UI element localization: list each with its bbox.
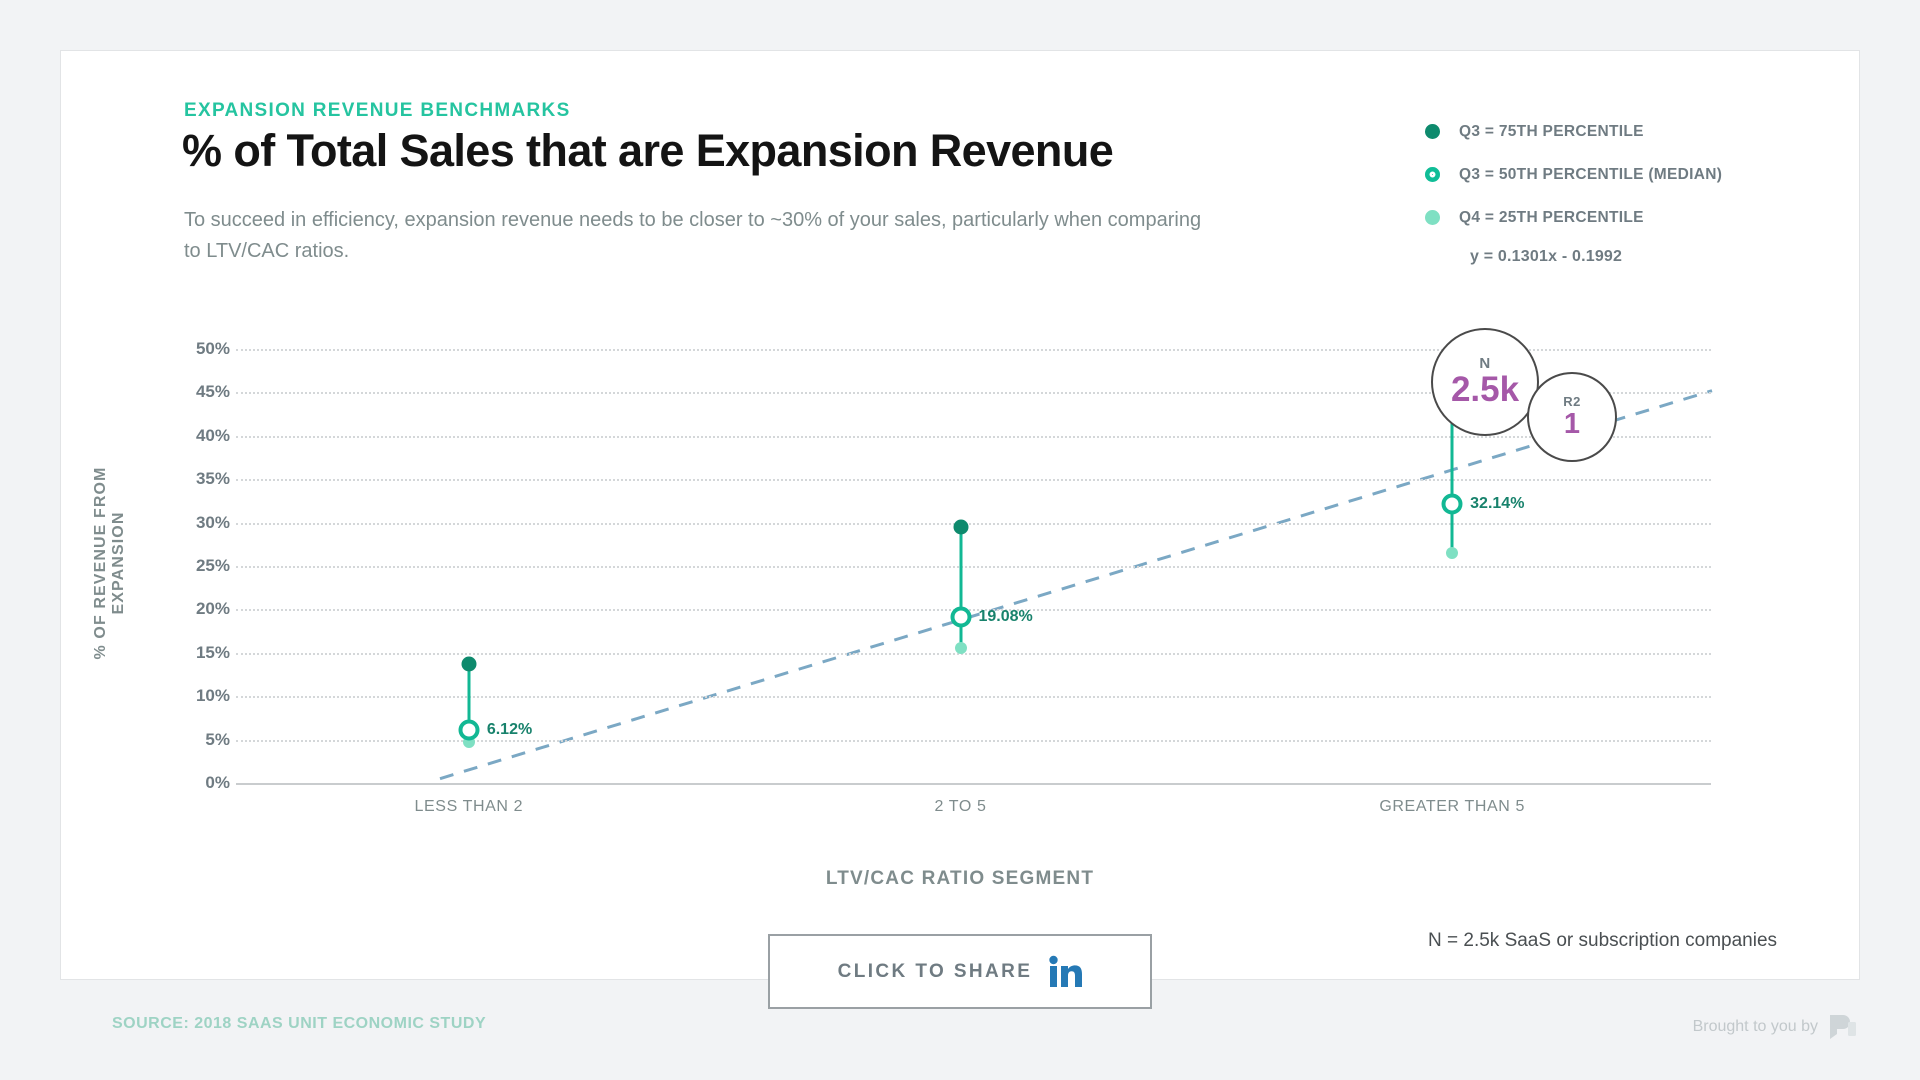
legend-item-q3-75: Q3 = 75TH PERCENTILE [1425,110,1805,153]
brand-attribution: Brought to you by [1693,1013,1858,1041]
legend-ring-icon [1425,167,1440,182]
source-note: SOURCE: 2018 SAAS UNIT ECONOMIC STUDY [112,1015,486,1033]
legend-item-label: Q3 = 50TH PERCENTILE (MEDIAN) [1459,166,1722,184]
brought-by-label: Brought to you by [1693,1018,1818,1036]
legend-item-label: Q4 = 25TH PERCENTILE [1459,209,1644,227]
linkedin-icon [1048,955,1082,989]
legend-dot-icon [1425,210,1440,225]
page-subtitle: To succeed in efficiency, expansion reve… [184,205,1214,267]
profitwell-logo-icon [1828,1013,1858,1041]
eyebrow-label: EXPANSION REVENUE BENCHMARKS [184,100,571,122]
share-button[interactable]: CLICK TO SHARE [768,934,1152,1009]
legend-item-q4-25: Q4 = 25TH PERCENTILE [1425,196,1805,239]
legend-item-median: Q3 = 50TH PERCENTILE (MEDIAN) [1425,153,1805,196]
legend-item-label: Q3 = 75TH PERCENTILE [1459,123,1644,141]
infographic-page: EXPANSION REVENUE BENCHMARKS % of Total … [0,0,1920,1080]
trendline-equation: y = 0.1301x - 0.1992 [1470,248,1622,266]
chart-legend: Q3 = 75TH PERCENTILE Q3 = 50TH PERCENTIL… [1425,110,1805,239]
x-axis-title: LTV/CAC RATIO SEGMENT [0,868,1920,890]
sample-size-note: N = 2.5k SaaS or subscription companies [1428,930,1777,952]
share-button-label: CLICK TO SHARE [838,961,1033,983]
page-title: % of Total Sales that are Expansion Reve… [182,125,1113,177]
legend-dot-icon [1425,124,1440,139]
